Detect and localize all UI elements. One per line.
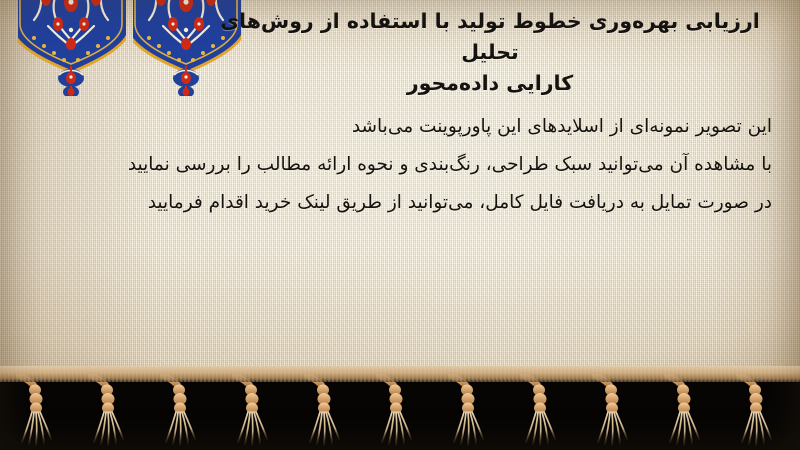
carpet-selvedge-edge <box>0 366 800 382</box>
slide-body: این تصویر نمونه‌ای از اسلایدهای این پاور… <box>30 108 772 222</box>
title-line-1: ارزیابی بهره‌وری خطوط تولید با استفاده ا… <box>220 9 760 64</box>
carpet-tassel-fringe-icon <box>0 374 800 450</box>
carpet-slide: ارزیابی بهره‌وری خطوط تولید با استفاده ا… <box>0 0 800 450</box>
slide-text-layer: ارزیابی بهره‌وری خطوط تولید با استفاده ا… <box>0 0 800 372</box>
body-line-3: در صورت تمایل به دریافت فایل کامل، می‌تو… <box>30 184 772 222</box>
carpet-fringe-base <box>0 366 800 450</box>
body-line-2: با مشاهده آن می‌توانید سبک طراحی، رنگ‌بن… <box>30 146 772 184</box>
title-line-2: کارایی داده‌محور <box>407 71 573 95</box>
body-line-1: این تصویر نمونه‌ای از اسلایدهای این پاور… <box>30 108 772 146</box>
slide-title: ارزیابی بهره‌وری خطوط تولید با استفاده ا… <box>210 6 770 99</box>
